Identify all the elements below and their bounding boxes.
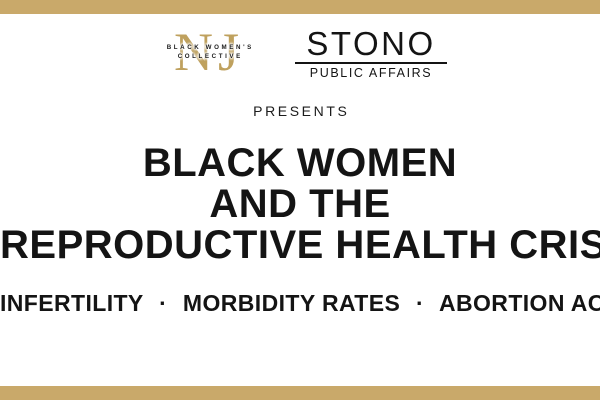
title-line-one: BLACK WOMEN bbox=[0, 143, 600, 184]
topic-separator-two: · bbox=[407, 290, 433, 316]
topic-infertility: INFERTILITY bbox=[0, 290, 143, 316]
stono-subtitle: PUBLIC AFFAIRS bbox=[295, 66, 447, 80]
poster-canvas: NJ BLACK WOMEN'S COLLECTIVE STONO PUBLIC… bbox=[0, 14, 600, 386]
bwc-line-two: COLLECTIVE bbox=[153, 52, 265, 61]
black-womens-collective-wordmark: BLACK WOMEN'S COLLECTIVE bbox=[153, 43, 265, 61]
title-line-three: REPRODUCTIVE HEALTH CRISIS bbox=[0, 225, 600, 266]
topics-strip: INFERTILITY · MORBIDITY RATES · ABORTION… bbox=[0, 290, 600, 316]
topic-morbidity-rates: MORBIDITY RATES bbox=[183, 290, 400, 316]
stono-public-affairs-logo: STONO PUBLIC AFFAIRS bbox=[295, 27, 447, 80]
title-line-two: AND THE bbox=[0, 184, 600, 225]
logo-row: NJ BLACK WOMEN'S COLLECTIVE STONO PUBLIC… bbox=[0, 14, 600, 76]
presents-label: PRESENTS bbox=[0, 103, 600, 119]
stono-divider-rule bbox=[295, 62, 447, 64]
topic-abortion-access: ABORTION ACCESS bbox=[439, 290, 600, 316]
black-womens-collective-logo: NJ BLACK WOMEN'S COLLECTIVE bbox=[153, 23, 265, 85]
stono-wordmark: STONO bbox=[295, 27, 447, 61]
bottom-gold-bar bbox=[0, 386, 600, 400]
event-title: BLACK WOMEN AND THE REPRODUCTIVE HEALTH … bbox=[0, 143, 600, 266]
topic-separator-one: · bbox=[150, 290, 176, 316]
top-gold-bar bbox=[0, 0, 600, 14]
event-poster: NJ BLACK WOMEN'S COLLECTIVE STONO PUBLIC… bbox=[0, 0, 600, 400]
bwc-line-one: BLACK WOMEN'S bbox=[153, 43, 265, 52]
